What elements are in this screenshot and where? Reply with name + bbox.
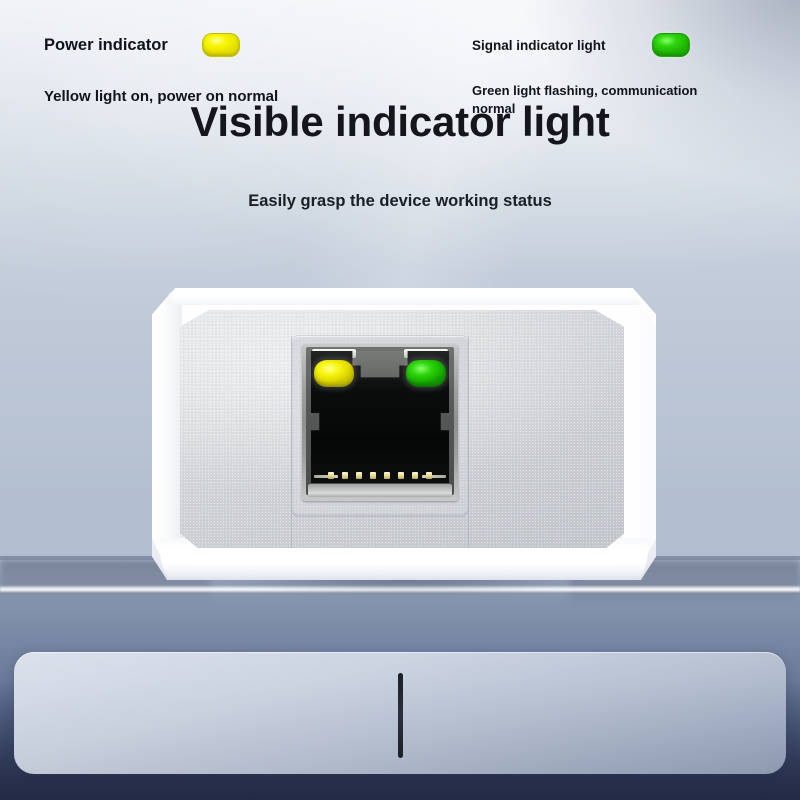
power-indicator-description: Yellow light on, power on normal: [44, 88, 278, 105]
legend-column-power: Power indicator Yellow light on, power o…: [44, 0, 374, 800]
signal-indicator-description: Green light flashing, communication norm…: [472, 82, 734, 117]
power-indicator-label: Power indicator: [44, 36, 168, 55]
legend-column-signal: Signal indicator light Green light flash…: [472, 0, 762, 800]
rj45-pin: [426, 472, 432, 479]
signal-led-indicator: [406, 360, 446, 387]
rj45-pin: [398, 472, 404, 479]
signal-led-chip: [652, 33, 690, 57]
panel-seam-right: [468, 336, 469, 548]
legend-power-header: Power indicator: [44, 33, 240, 57]
rj45-pin: [412, 472, 418, 479]
signal-indicator-label: Signal indicator light: [472, 38, 606, 53]
product-feature-slide: Visible indicator light Easily grasp the…: [0, 0, 800, 800]
legend-signal-header: Signal indicator light: [472, 33, 690, 57]
legend-divider: [398, 673, 403, 758]
rj45-pin: [384, 472, 390, 479]
power-led-chip: [202, 33, 240, 57]
